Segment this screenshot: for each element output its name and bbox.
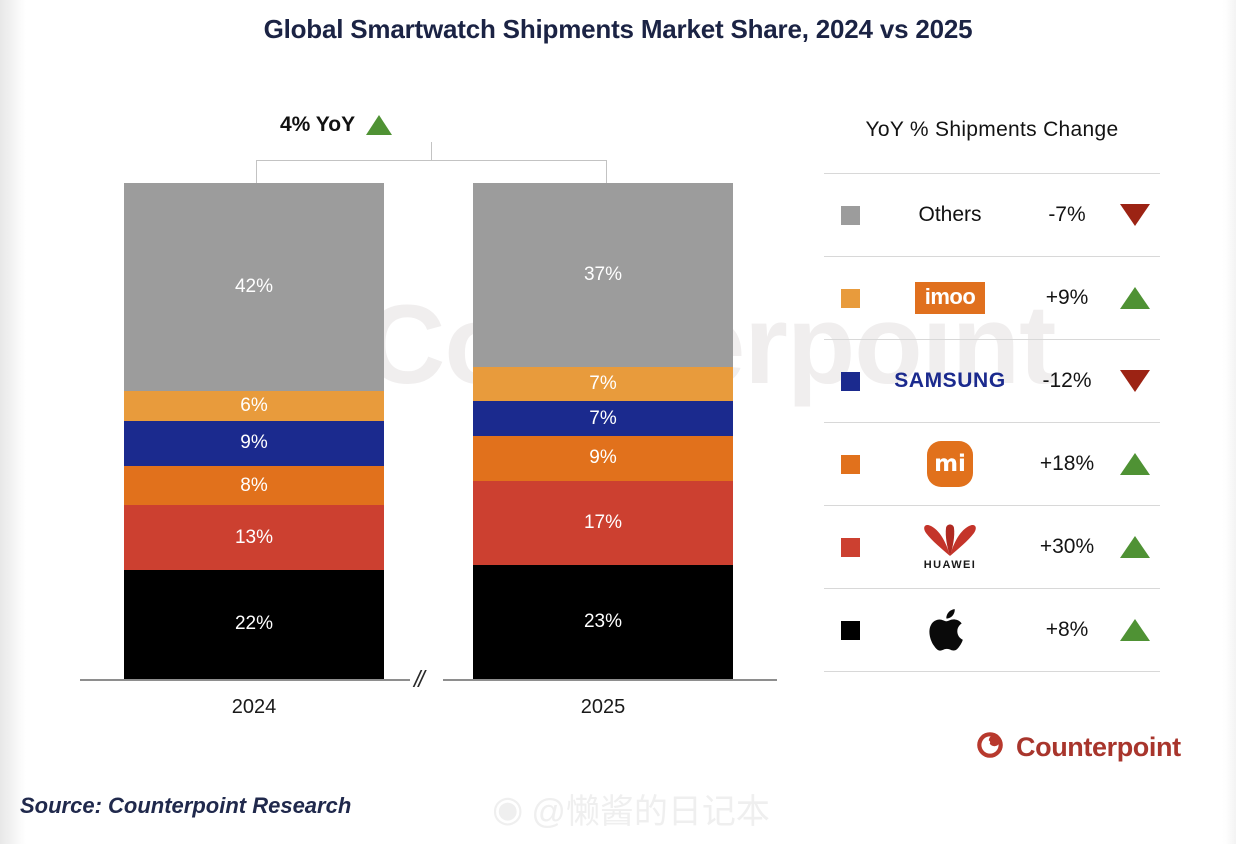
bar-segment-label: 9% — [240, 432, 267, 454]
legend-header: YoY % Shipments Change — [824, 110, 1160, 173]
bar-segment: 22% — [124, 570, 384, 679]
legend-row[interactable]: HUAWEI+30% — [824, 506, 1160, 589]
bar-segment: 17% — [473, 481, 733, 565]
legend-brand-cell — [876, 605, 1024, 655]
bar-segment-label: 6% — [240, 395, 267, 417]
legend-change-value: -12% — [1024, 369, 1110, 393]
legend-color-swatch — [841, 538, 860, 557]
source-note: Source: Counterpoint Research — [20, 793, 351, 819]
legend-change-value: +9% — [1024, 286, 1110, 310]
bar-segment-label: 13% — [235, 527, 273, 549]
legend-rows: Others-7%imoo+9%SAMSUNG-12%mi+18%HUAWEI+… — [824, 173, 1160, 672]
legend-color-swatch — [841, 372, 860, 391]
bar-segment: 9% — [124, 421, 384, 466]
bar-2024: 42%6%9%8%13%22% — [124, 183, 384, 679]
legend-arrow-cell — [1110, 453, 1160, 475]
triangle-down-icon — [1120, 204, 1150, 226]
triangle-down-icon — [1120, 370, 1150, 392]
legend-brand-cell: HUAWEI — [876, 523, 1024, 571]
x-axis-line-left — [80, 679, 410, 681]
legend-row[interactable]: mi+18% — [824, 423, 1160, 506]
triangle-up-icon — [1120, 536, 1150, 558]
bar-segment: 7% — [473, 367, 733, 402]
legend-change-value: +18% — [1024, 452, 1110, 476]
huawei-logo-icon: HUAWEI — [912, 523, 988, 571]
bar-segment: 42% — [124, 183, 384, 391]
imoo-logo-icon: imoo — [915, 282, 986, 313]
bar-segment-label: 23% — [584, 611, 622, 633]
legend-arrow-cell — [1110, 287, 1160, 309]
bar-segment-label: 7% — [589, 408, 616, 430]
samsung-logo-icon: SAMSUNG — [894, 369, 1006, 393]
bar-segment: 37% — [473, 183, 733, 367]
legend-arrow-cell — [1110, 536, 1160, 558]
bar-segment-label: 37% — [584, 264, 622, 286]
huawei-wordmark: HUAWEI — [924, 559, 976, 571]
legend-arrow-cell — [1110, 370, 1160, 392]
chart-canvas: Counterpoint Global Smartwatch Shipments… — [0, 0, 1236, 844]
legend-change-value: -7% — [1024, 203, 1110, 227]
legend-color-swatch — [841, 621, 860, 640]
bar-segment: 8% — [124, 466, 384, 506]
legend-row[interactable]: +8% — [824, 589, 1160, 672]
legend: YoY % Shipments Change Others-7%imoo+9%S… — [824, 110, 1160, 672]
legend-brand-cell: imoo — [876, 282, 1024, 313]
x-axis-label-2025: 2025 — [473, 696, 733, 719]
legend-arrow-cell — [1110, 204, 1160, 226]
bar-2025: 37%7%7%9%17%23% — [473, 183, 733, 679]
legend-arrow-cell — [1110, 619, 1160, 641]
legend-color-swatch — [841, 455, 860, 474]
legend-brand-cell: SAMSUNG — [876, 369, 1024, 393]
bar-segment: 7% — [473, 401, 733, 436]
bar-segment-label: 7% — [589, 373, 616, 395]
bar-segment-label: 8% — [240, 475, 267, 497]
triangle-up-icon — [1120, 619, 1150, 641]
legend-brand-cell: Others — [876, 203, 1024, 227]
triangle-up-icon — [1120, 287, 1150, 309]
legend-row[interactable]: imoo+9% — [824, 257, 1160, 340]
counterpoint-mark-icon — [975, 730, 1005, 765]
legend-color-swatch — [841, 289, 860, 308]
bar-segment-label: 17% — [584, 512, 622, 534]
legend-row[interactable]: SAMSUNG-12% — [824, 340, 1160, 423]
counterpoint-wordmark: Counterpoint — [1016, 732, 1181, 763]
apple-logo-icon — [929, 605, 971, 655]
bar-segment-label: 22% — [235, 613, 273, 635]
bar-segment: 13% — [124, 505, 384, 569]
counterpoint-logo: Counterpoint — [975, 730, 1181, 765]
legend-change-value: +8% — [1024, 618, 1110, 642]
bar-segment: 6% — [124, 391, 384, 421]
legend-swatch-cell — [824, 372, 876, 391]
x-axis-line-right — [443, 679, 777, 681]
legend-swatch-cell — [824, 455, 876, 474]
legend-brand-cell: mi — [876, 441, 1024, 487]
x-axis-label-2024: 2024 — [124, 696, 384, 719]
triangle-up-icon — [1120, 453, 1150, 475]
bar-segment: 9% — [473, 436, 733, 481]
legend-change-value: +30% — [1024, 535, 1110, 559]
legend-color-swatch — [841, 206, 860, 225]
legend-swatch-cell — [824, 538, 876, 557]
axis-break-marker: // — [414, 666, 423, 693]
legend-row[interactable]: Others-7% — [824, 174, 1160, 257]
bar-segment-label: 42% — [235, 276, 273, 298]
bar-segment: 23% — [473, 565, 733, 679]
legend-swatch-cell — [824, 289, 876, 308]
bar-segment-label: 9% — [589, 447, 616, 469]
legend-swatch-cell — [824, 206, 876, 225]
legend-brand-label: Others — [918, 203, 981, 227]
legend-swatch-cell — [824, 621, 876, 640]
xiaomi-logo-icon: mi — [927, 441, 973, 487]
